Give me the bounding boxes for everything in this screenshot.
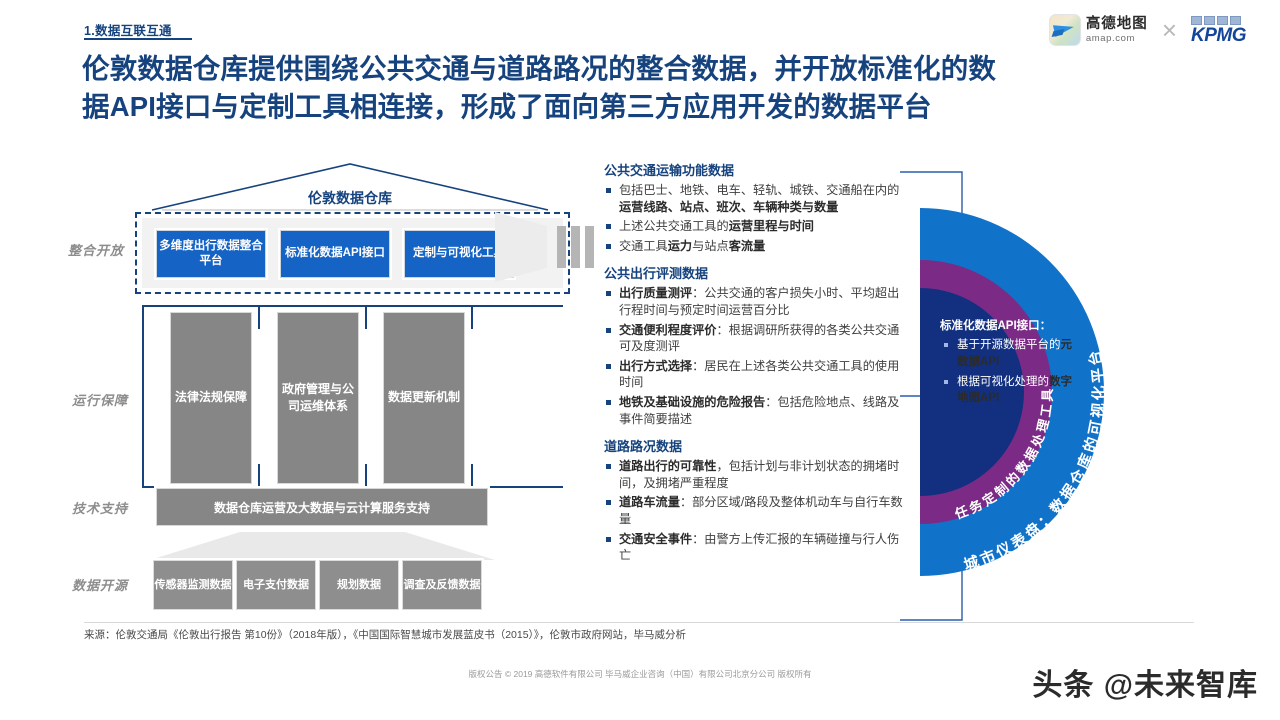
kpmg-logo: KPMG: [1191, 16, 1246, 45]
api-core-list: 基于开源数据平台的元数据API 根据可视化处理的数字地图API: [940, 337, 1072, 406]
row-label-tech: 技术支持: [72, 498, 128, 517]
list-item: 道路出行的可靠性，包括计划与非计划状态的拥堵时间，及拥堵严重程度: [604, 458, 906, 491]
row-label-operation: 运行保障: [72, 390, 128, 409]
section-list-travel-eval: 出行质量测评：公共交通的客户损失小时、平均超出行程时间与预定时间运营百分比 交通…: [604, 285, 906, 427]
list-item: 基于开源数据平台的元数据API: [940, 337, 1072, 370]
api-core-content: 标准化数据API接口： 基于开源数据平台的元数据API 根据可视化处理的数字地图…: [940, 318, 1072, 411]
bracket-tick-bottom-left: [142, 464, 144, 488]
list-item: 道路车流量：部分区域/路段及整体机动车与自行车数量: [604, 494, 906, 527]
source-box-2[interactable]: 电子支付数据: [236, 560, 316, 610]
watermark-label: 头条 @未来智库: [1032, 660, 1258, 704]
bracket-tick-top-left: [142, 305, 144, 329]
funnel-shape-icon: [150, 532, 495, 560]
list-item: 上述公共交通工具的运营里程与时间: [604, 218, 906, 235]
source-box-4[interactable]: 调查及反馈数据: [402, 560, 482, 610]
kicker-underline: [84, 38, 192, 40]
list-item: 地铁及基础设施的危险报告：包括危险地点、线路及事件简要描述: [604, 394, 906, 427]
page-kicker: 1.数据互联互通: [84, 20, 172, 39]
bracket-tick-bottom-2: [258, 464, 260, 488]
roof-label: 伦敦数据仓库: [150, 188, 550, 208]
data-catalog-panel: 公共交通运输功能数据 包括巴士、地铁、电车、轻轨、城铁、交通船在内的运营线路、站…: [604, 160, 906, 573]
row-label-source: 数据开源: [72, 575, 128, 594]
section-heading-travel-eval: 公共出行评测数据: [604, 263, 906, 282]
list-item: 交通安全事件：由警方上传汇报的车辆碰撞与行人伤亡: [604, 531, 906, 564]
tech-support-box[interactable]: 数据仓库运营及大数据与云计算服务支持: [156, 488, 488, 526]
list-item: 交通工具运力与站点客流量: [604, 238, 906, 255]
amap-logo-en: amap.com: [1086, 34, 1148, 44]
bracket-tick-top-3: [365, 305, 367, 329]
footer-divider: [84, 622, 1194, 623]
open-box-2[interactable]: 标准化数据API接口: [280, 230, 390, 278]
amap-logo: 高德地图 amap.com: [1049, 14, 1148, 46]
row-label-open: 整合开放: [68, 240, 124, 259]
section-list-road: 道路出行的可靠性，包括计划与非计划状态的拥堵时间，及拥堵严重程度 道路车流量：部…: [604, 458, 906, 564]
bracket-tick-top-2: [258, 305, 260, 329]
source-box-1[interactable]: 传感器监测数据: [153, 560, 233, 610]
list-item: 根据可视化处理的数字地图API: [940, 374, 1072, 407]
list-item: 出行质量测评：公共交通的客户损失小时、平均超出行程时间与预定时间运营百分比: [604, 285, 906, 318]
kpmg-bars-icon: [1191, 16, 1246, 25]
amap-paperplane-icon: [1049, 14, 1081, 46]
list-item: 出行方式选择：居民在上述各类公共交通工具的使用时间: [604, 358, 906, 391]
page-title: 伦敦数据仓库提供围绕公共交通与道路路况的整合数据，并开放标准化的数据API接口与…: [82, 50, 1002, 126]
list-item: 包括巴士、地铁、电车、轻轨、城铁、交通船在内的运营线路、站点、班次、车辆种类与数…: [604, 182, 906, 215]
amap-logo-text: 高德地图 amap.com: [1086, 17, 1148, 43]
operation-box-1[interactable]: 法律法规保障: [170, 312, 252, 484]
bracket-tick-bottom-4: [471, 464, 473, 488]
list-item: 交通便利程度评价：根据调研所获得的各类公共交通可及度测评: [604, 322, 906, 355]
section-heading-transport: 公共交通运输功能数据: [604, 160, 906, 179]
api-core-heading: 标准化数据API接口：: [940, 318, 1072, 334]
slide-root: 1.数据互联互通 伦敦数据仓库提供围绕公共交通与道路路况的整合数据，并开放标准化…: [0, 0, 1280, 720]
section-list-transport: 包括巴士、地铁、电车、轻轨、城铁、交通船在内的运营线路、站点、班次、车辆种类与数…: [604, 182, 906, 254]
amap-logo-cn: 高德地图: [1086, 17, 1148, 32]
source-box-3[interactable]: 规划数据: [319, 560, 399, 610]
bracket-tick-top-4: [471, 305, 473, 329]
bracket-tick-bottom-3: [365, 464, 367, 488]
open-box-1[interactable]: 多维度出行数据整合平台: [156, 230, 266, 278]
flow-arrow-icon: [495, 212, 620, 282]
logo-separator-x-icon: ×: [1162, 17, 1177, 43]
api-circle-graphic: 城市仪表盘：数据仓库的可视化平台 任务定制的数据处理工具 标准化数据API接口：…: [900, 168, 1230, 616]
logo-group: 高德地图 amap.com × KPMG: [1049, 14, 1246, 46]
operation-box-2[interactable]: 政府管理与公司运维体系: [277, 312, 359, 484]
operation-box-3[interactable]: 数据更新机制: [383, 312, 465, 484]
source-note: 来源：伦敦交通局《伦敦出行报告 第10份》（2018年版），《中国国际智慧城市发…: [84, 627, 1084, 642]
kpmg-logo-text: KPMG: [1191, 26, 1246, 45]
section-heading-road: 道路路况数据: [604, 436, 906, 455]
